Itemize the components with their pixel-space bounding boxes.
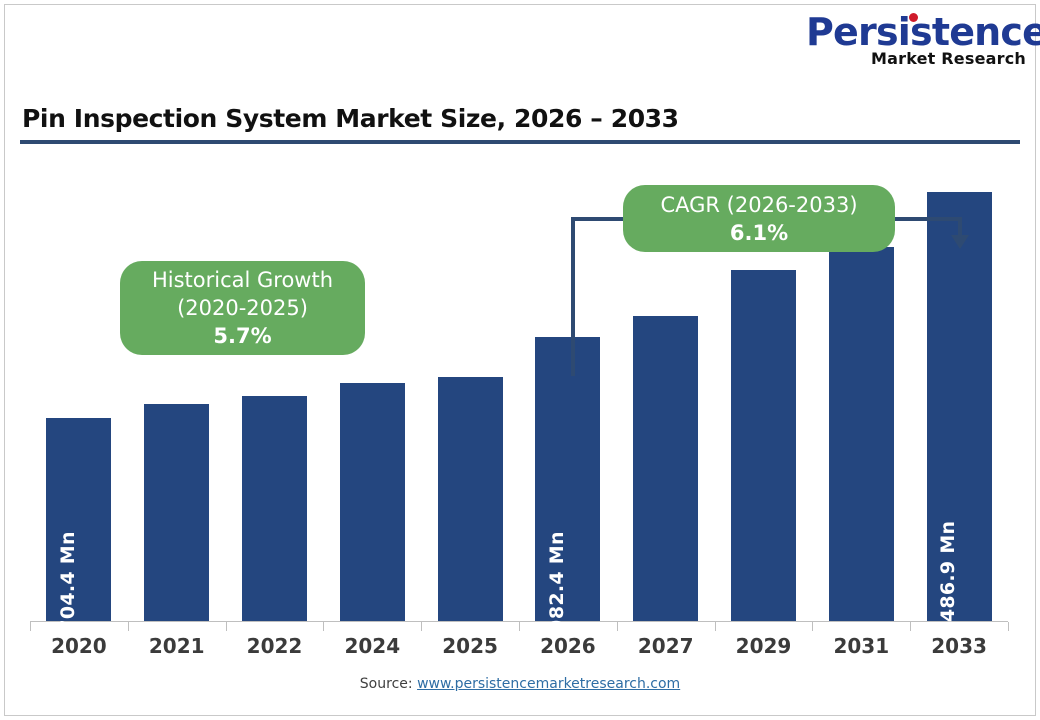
x-axis-label-2022: 2022 [226, 634, 324, 658]
cagr-arrowhead-icon [951, 235, 969, 249]
company-logo: Persistence Market Research [806, 12, 1026, 70]
x-axis-label-2026: 2026 [519, 634, 617, 658]
axis-tick [323, 622, 324, 631]
historical-growth-line1: Historical Growth [152, 266, 333, 294]
axis-tick [128, 622, 129, 631]
source-line: Source: www.persistencemarketresearch.co… [0, 676, 1040, 692]
source-label: Source: [360, 676, 417, 692]
axis-tick [226, 622, 227, 631]
x-axis-label-2029: 2029 [715, 634, 813, 658]
historical-growth-line2: (2020-2025) [177, 294, 308, 322]
x-axis-label-2033: 2033 [910, 634, 1008, 658]
axis-tick [812, 622, 813, 631]
page-title: Pin Inspection System Market Size, 2026 … [22, 104, 679, 134]
logo-wordmark: Persistence [806, 12, 1040, 52]
bar-2026: US$ 982.4 Mn [535, 337, 600, 621]
bar-2025 [438, 377, 503, 621]
axis-tick [715, 622, 716, 631]
bar-2024 [340, 383, 405, 621]
cagr-label: CAGR (2026-2033) [660, 191, 857, 219]
x-axis-labels: 2020202120222024202520262027202920312033 [30, 634, 1008, 668]
logo-wordmark-text: Persistence [806, 10, 1040, 54]
x-axis-label-2031: 2031 [812, 634, 910, 658]
source-url-link[interactable]: www.persistencemarketresearch.com [417, 676, 680, 692]
historical-growth-callout: Historical Growth (2020-2025) 5.7% [120, 261, 365, 355]
cagr-connector-left-vertical [571, 219, 575, 376]
x-axis-label-2021: 2021 [128, 634, 226, 658]
x-axis-label-2024: 2024 [323, 634, 421, 658]
axis-tick [421, 622, 422, 631]
bar-2020: US$ 704.4 Mn [46, 418, 111, 621]
axis-tick [910, 622, 911, 631]
cagr-callout: CAGR (2026-2033) 6.1% [623, 185, 895, 252]
bar-2027 [633, 316, 698, 621]
x-axis-label-2020: 2020 [30, 634, 128, 658]
bar-2033: US$ 1,486.9 Mn [927, 192, 992, 621]
axis-tick [30, 622, 31, 631]
bar-2021 [144, 404, 209, 621]
x-axis-label-2027: 2027 [617, 634, 715, 658]
chart-page: Persistence Market Research Pin Inspecti… [0, 0, 1040, 720]
bar-2031 [829, 247, 894, 621]
historical-growth-value: 5.7% [213, 322, 271, 350]
axis-tick [617, 622, 618, 631]
axis-tick [519, 622, 520, 631]
logo-dot-icon [909, 13, 918, 22]
cagr-value: 6.1% [730, 219, 788, 247]
x-axis-label-2025: 2025 [421, 634, 519, 658]
axis-tick [1008, 622, 1009, 631]
bar-2029 [731, 270, 796, 621]
bar-2022 [242, 396, 307, 621]
title-divider [20, 140, 1020, 144]
